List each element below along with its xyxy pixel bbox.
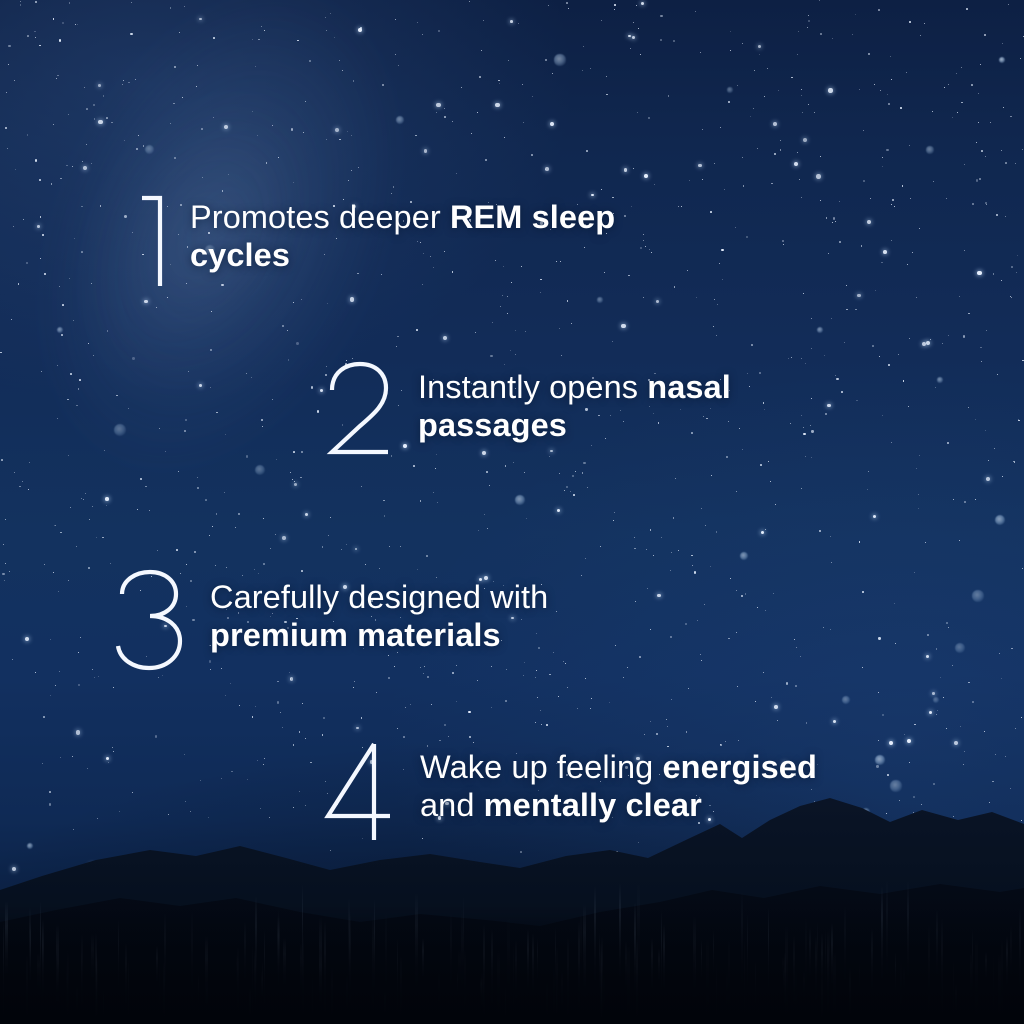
item2-line1-bold: nasal	[647, 369, 731, 405]
list-item: Promotes deeper REM sleep cycles	[128, 186, 615, 298]
list-item-text-1: Promotes deeper REM sleep cycles	[190, 186, 615, 274]
item3-line2-bold: premium materials	[210, 617, 501, 653]
item4-line1-plain: Wake up feeling	[420, 749, 662, 785]
item4-line2-plain: and	[420, 787, 484, 823]
item1-line1-bold: REM sleep	[450, 199, 615, 235]
item1-line2-bold: cycles	[190, 237, 290, 273]
item2-line1-plain: Instantly opens	[418, 369, 647, 405]
list-item-text-3: Carefully designed with premium material…	[210, 566, 548, 654]
list-item-text-2: Instantly opens nasal passages	[418, 356, 731, 444]
item2-line2-bold: passages	[418, 407, 567, 443]
list-number-2	[322, 356, 400, 468]
item1-line1-plain: Promotes deeper	[190, 199, 450, 235]
item4-line2-bold: mentally clear	[484, 787, 702, 823]
promo-graphic: Promotes deeper REM sleep cycles Instant…	[0, 0, 1024, 1024]
benefits-list: Promotes deeper REM sleep cycles Instant…	[0, 0, 1024, 1024]
list-item: Instantly opens nasal passages	[322, 356, 731, 468]
list-number-4	[322, 736, 400, 848]
item3-line1-plain: Carefully designed with	[210, 579, 548, 615]
item4-line1-bold: energised	[662, 749, 816, 785]
list-item: Carefully designed with premium material…	[110, 566, 548, 678]
list-number-1	[128, 186, 190, 298]
list-item: Wake up feeling energised and mentally c…	[322, 736, 817, 848]
list-item-text-4: Wake up feeling energised and mentally c…	[420, 736, 817, 824]
list-number-3	[110, 566, 190, 678]
